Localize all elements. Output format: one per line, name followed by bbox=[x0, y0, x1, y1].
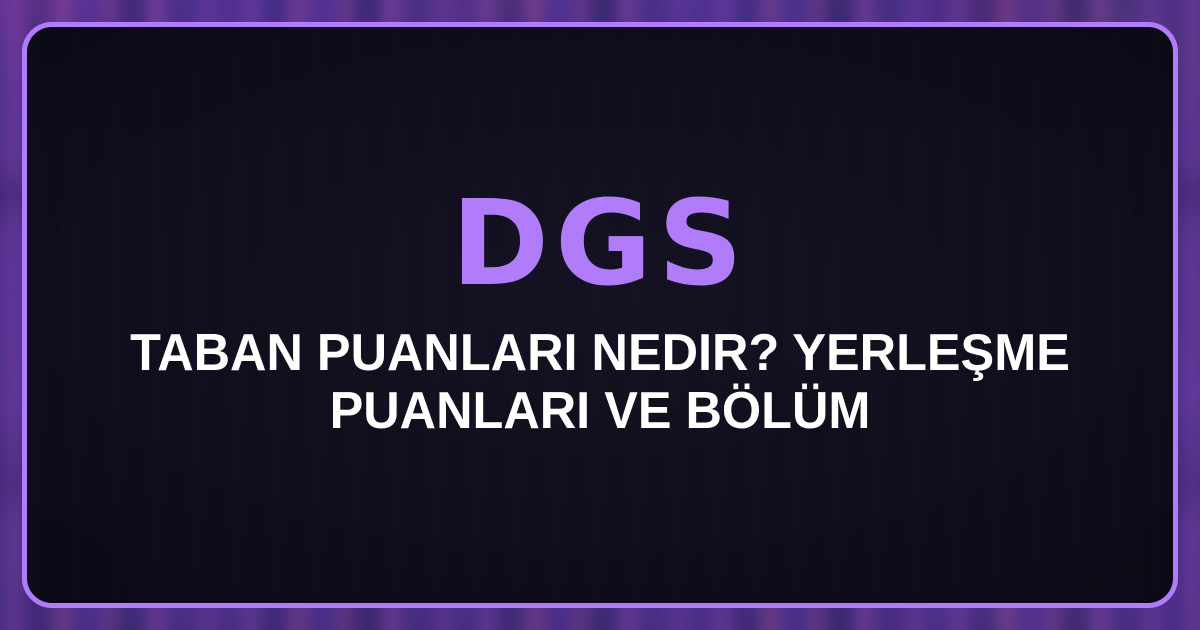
content-panel: DGS TABAN PUANLARI NEDIR? YERLEŞME PUANL… bbox=[22, 22, 1178, 608]
social-share-card: DGS TABAN PUANLARI NEDIR? YERLEŞME PUANL… bbox=[0, 0, 1200, 630]
brand-title: DGS bbox=[67, 184, 1133, 302]
card-content: DGS TABAN PUANLARI NEDIR? YERLEŞME PUANL… bbox=[27, 184, 1173, 440]
headline: TABAN PUANLARI NEDIR? YERLEŞME PUANLARI … bbox=[110, 324, 1090, 440]
headline-line-2: PUANLARI VE BÖLÜM bbox=[330, 382, 871, 440]
headline-line-1: TABAN PUANLARI NEDIR? YERLEŞME bbox=[130, 324, 1070, 382]
